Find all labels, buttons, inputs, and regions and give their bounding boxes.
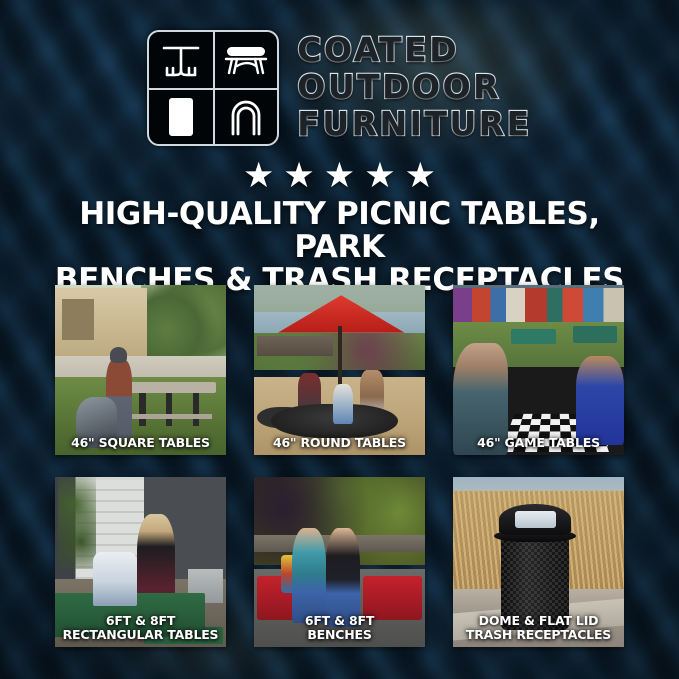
tile-caption: DOME & FLAT LID TRASH RECEPTACLES	[453, 614, 624, 641]
tile-caption-line-1: DOME & FLAT LID	[479, 613, 599, 628]
star-icon-4: ★	[364, 158, 395, 194]
tile-caption-line-2: BENCHES	[257, 628, 422, 642]
headline: HIGH-QUALITY PICNIC TABLES, PARK BENCHES…	[30, 198, 649, 297]
bike-rack-icon	[213, 88, 277, 144]
photo-game-tables	[453, 285, 624, 455]
tile-caption-line-1: 46" GAME TABLES	[477, 435, 600, 450]
logo-wordmark: COATED OUTDOOR FURNITURE	[297, 32, 531, 144]
brand-logo: COATED OUTDOOR FURNITURE	[0, 24, 679, 152]
tile-caption: 46" SQUARE TABLES	[55, 436, 226, 450]
banner-content: COATED OUTDOOR FURNITURE ★ ★ ★ ★ ★ HIGH-…	[0, 0, 679, 679]
photo-round-tables	[254, 285, 425, 455]
product-tile-game-tables[interactable]: 46" GAME TABLES	[453, 285, 624, 455]
trash-receptacle-icon	[149, 88, 213, 144]
tile-caption: 6FT & 8FT BENCHES	[254, 614, 425, 641]
product-tile-round-tables[interactable]: 46" ROUND TABLES	[254, 285, 425, 455]
tile-caption: 46" ROUND TABLES	[254, 436, 425, 450]
logo-mark	[147, 30, 279, 146]
product-tile-trash-receptacles[interactable]: DOME & FLAT LID TRASH RECEPTACLES	[453, 477, 624, 647]
tile-caption-line-1: 46" ROUND TABLES	[273, 435, 406, 450]
product-tile-rectangular-tables[interactable]: 6FT & 8FT RECTANGULAR TABLES	[55, 477, 226, 647]
star-icon-5: ★	[405, 158, 436, 194]
tile-caption-line-1: 46" SQUARE TABLES	[71, 435, 210, 450]
star-rating: ★ ★ ★ ★ ★	[0, 158, 679, 194]
logo-word-outdoor: OUTDOOR	[297, 69, 531, 105]
photo-square-tables	[55, 285, 226, 455]
tile-caption: 46" GAME TABLES	[453, 436, 624, 450]
logo-word-coated: COATED	[297, 32, 531, 68]
product-tile-benches[interactable]: 6FT & 8FT BENCHES	[254, 477, 425, 647]
tile-caption-line-2: RECTANGULAR TABLES	[58, 628, 223, 642]
tile-caption: 6FT & 8FT RECTANGULAR TABLES	[55, 614, 226, 641]
product-tile-square-tables[interactable]: 46" SQUARE TABLES	[55, 285, 226, 455]
tile-caption-line-1: 6FT & 8FT	[106, 613, 175, 628]
product-tile-grid: 46" SQUARE TABLES	[55, 285, 625, 647]
picnic-table-icon	[149, 32, 213, 88]
logo-word-furniture: FURNITURE	[297, 106, 531, 142]
bench-icon	[213, 32, 277, 88]
tile-caption-line-2: TRASH RECEPTACLES	[456, 628, 621, 642]
star-icon-2: ★	[283, 158, 314, 194]
promo-banner: COATED OUTDOOR FURNITURE ★ ★ ★ ★ ★ HIGH-…	[0, 0, 679, 679]
headline-line-1: HIGH-QUALITY PICNIC TABLES, PARK	[79, 196, 600, 265]
star-icon-3: ★	[324, 158, 355, 194]
tile-caption-line-1: 6FT & 8FT	[305, 613, 374, 628]
star-icon-1: ★	[243, 158, 274, 194]
